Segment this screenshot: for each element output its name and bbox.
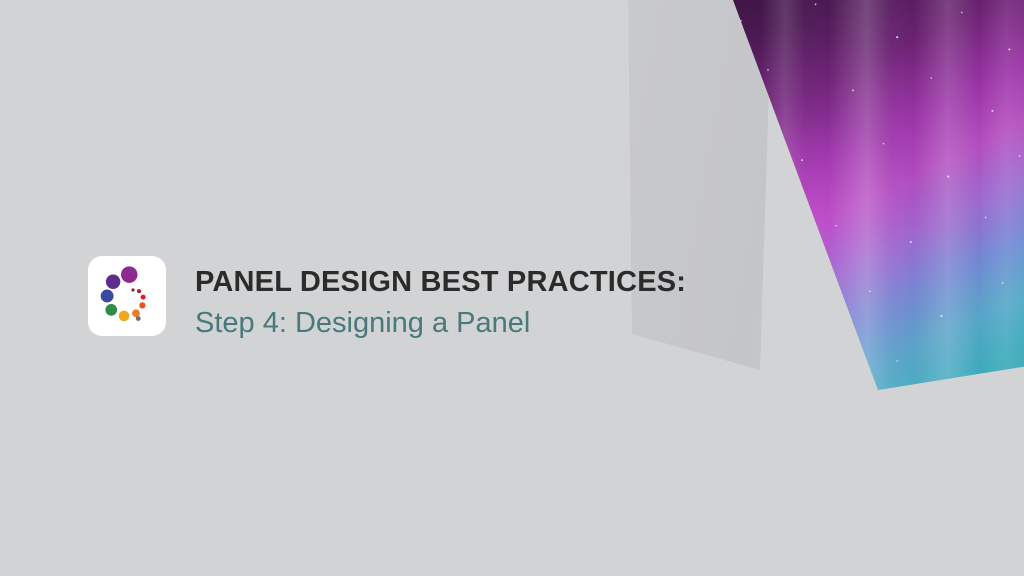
logo-dot-0 — [121, 266, 138, 283]
logo-tile — [88, 256, 166, 336]
aurora-gradient — [700, 0, 1024, 402]
logo-dot-6 — [139, 302, 145, 308]
logo-dot-9 — [131, 288, 134, 291]
aurora-photo-panel — [700, 0, 1024, 402]
page-title: PANEL DESIGN BEST PRACTICES: — [195, 267, 686, 297]
spiral-dots-logo-icon — [94, 263, 160, 329]
logo-dot-5 — [132, 309, 140, 317]
title-block: PANEL DESIGN BEST PRACTICES: Step 4: Des… — [88, 256, 686, 341]
logo-dot-1 — [106, 275, 120, 289]
logo-dot-3 — [105, 304, 117, 316]
logo-dot-8 — [137, 289, 141, 293]
aurora-stars-overlay — [700, 0, 1024, 402]
page-subtitle: Step 4: Designing a Panel — [195, 307, 686, 340]
logo-dot-2 — [101, 290, 114, 303]
logo-dot-10 — [136, 316, 141, 321]
logo-dot-4 — [119, 311, 130, 322]
logo-dot-7 — [141, 295, 146, 300]
slide-canvas: PANEL DESIGN BEST PRACTICES: Step 4: Des… — [0, 0, 1024, 576]
title-text-column: PANEL DESIGN BEST PRACTICES: Step 4: Des… — [195, 256, 686, 341]
